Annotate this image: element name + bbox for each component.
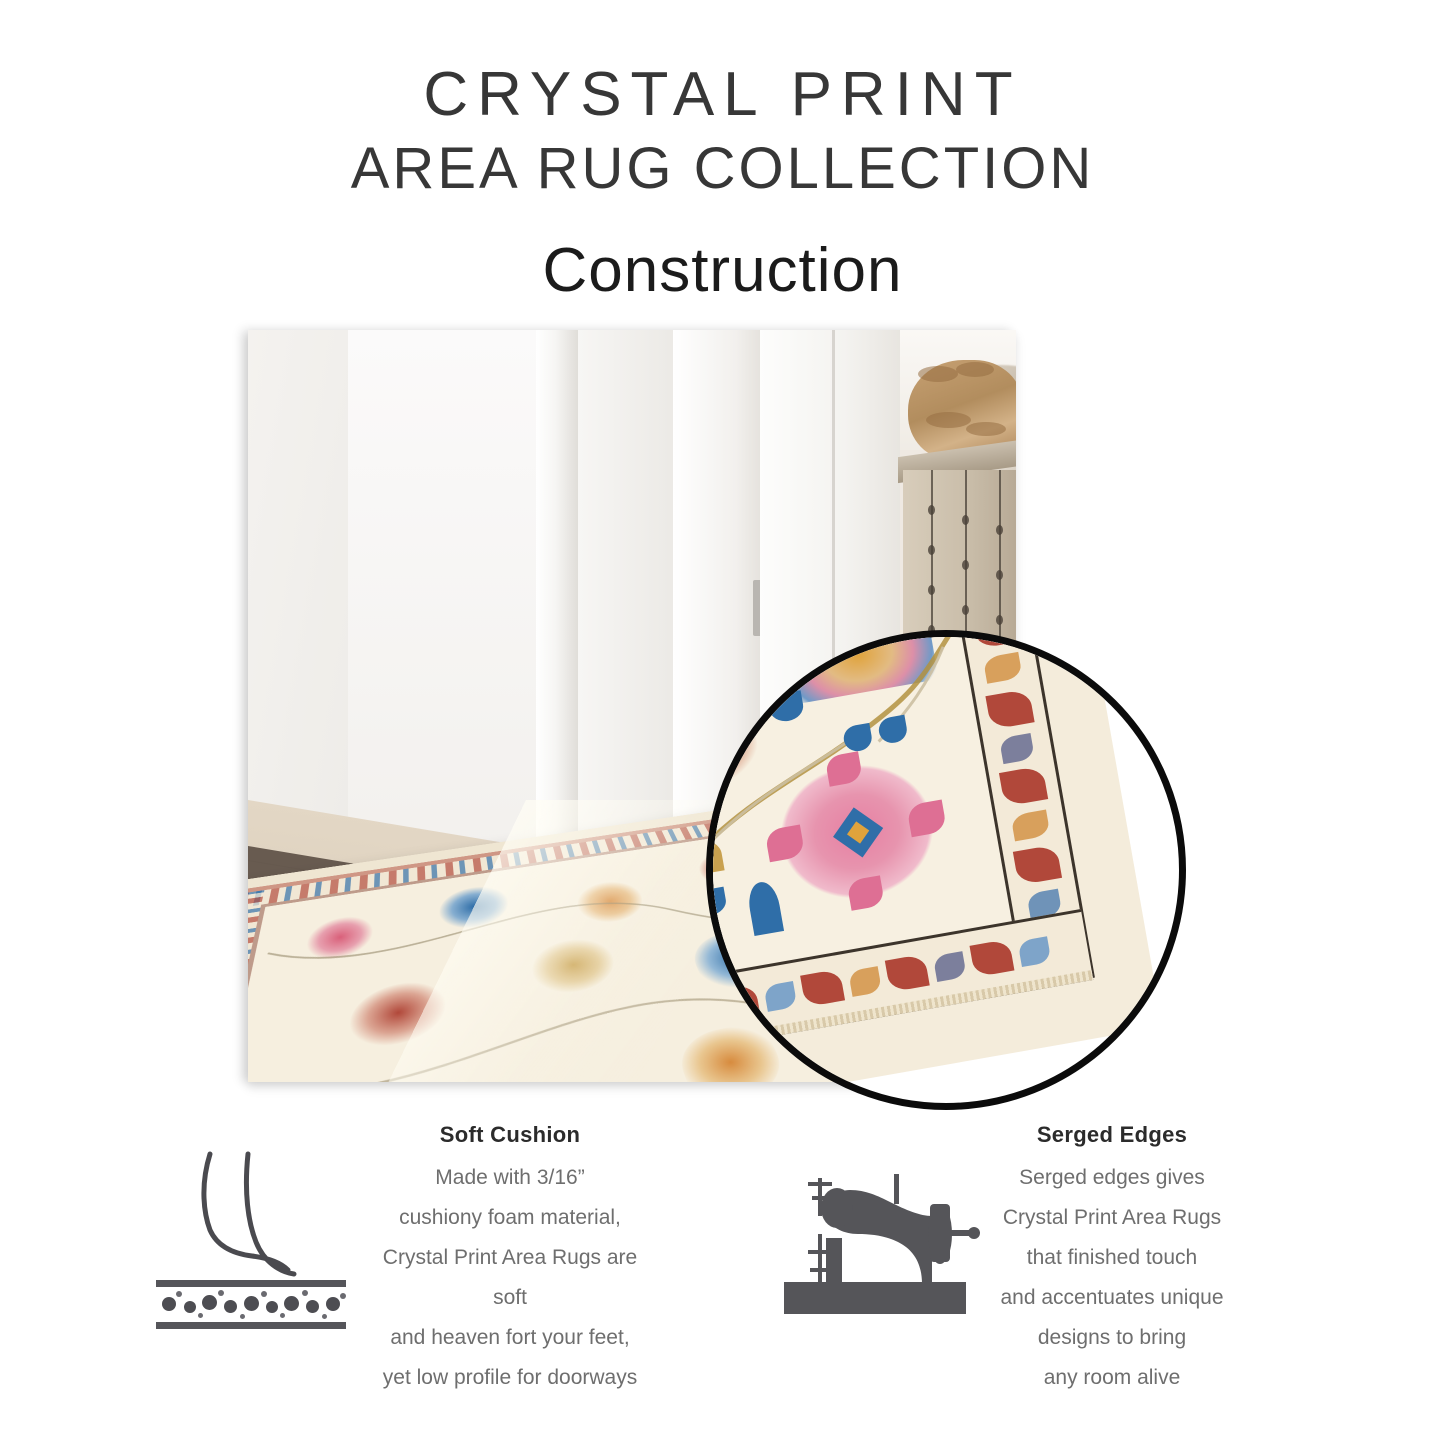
magnified-rug-corner: [706, 630, 1162, 1106]
feature-line: Serged edges gives: [962, 1158, 1262, 1198]
feature-line: and accentuates unique: [962, 1278, 1262, 1318]
infographic-page: CRYSTAL PRINT AREA RUG COLLECTION Constr…: [0, 0, 1445, 1445]
rug-detail-magnifier: [706, 630, 1186, 1110]
feature-line: that finished touch: [962, 1238, 1262, 1278]
feature-line: Crystal Print Area Rugs are: [330, 1238, 690, 1278]
sewing-machine-glyph: [782, 1172, 982, 1327]
sewing-machine-icon: [782, 1172, 982, 1332]
feature-serged-edges: Serged Edges Serged edges gives Crystal …: [962, 1122, 1262, 1398]
feature-line: Crystal Print Area Rugs: [962, 1198, 1262, 1238]
feature-line: soft: [330, 1278, 690, 1318]
cushion-foam-layer: [156, 1287, 346, 1322]
feature-title: Soft Cushion: [330, 1122, 690, 1148]
feature-line: yet low profile for doorways: [330, 1358, 690, 1398]
feature-line: and heaven fort your feet,: [330, 1318, 690, 1358]
feature-soft-cushion: Soft Cushion Made with 3/16” cushiony fo…: [330, 1122, 690, 1398]
header: CRYSTAL PRINT AREA RUG COLLECTION Constr…: [0, 0, 1445, 304]
cushion-top-layer: [156, 1280, 346, 1287]
feature-line: any room alive: [962, 1358, 1262, 1398]
page-subtitle: Construction: [0, 238, 1445, 304]
feature-line: designs to bring: [962, 1318, 1262, 1358]
cushion-bottom-layer: [156, 1322, 346, 1329]
page-title-line1: CRYSTAL PRINT: [0, 62, 1445, 128]
page-title-line2: AREA RUG COLLECTION: [0, 138, 1445, 200]
feature-line: Made with 3/16”: [330, 1158, 690, 1198]
feature-line: cushiony foam material,: [330, 1198, 690, 1238]
magnifier-content: [706, 630, 1186, 1110]
feature-title: Serged Edges: [962, 1122, 1262, 1148]
door-jamb: [536, 330, 580, 906]
